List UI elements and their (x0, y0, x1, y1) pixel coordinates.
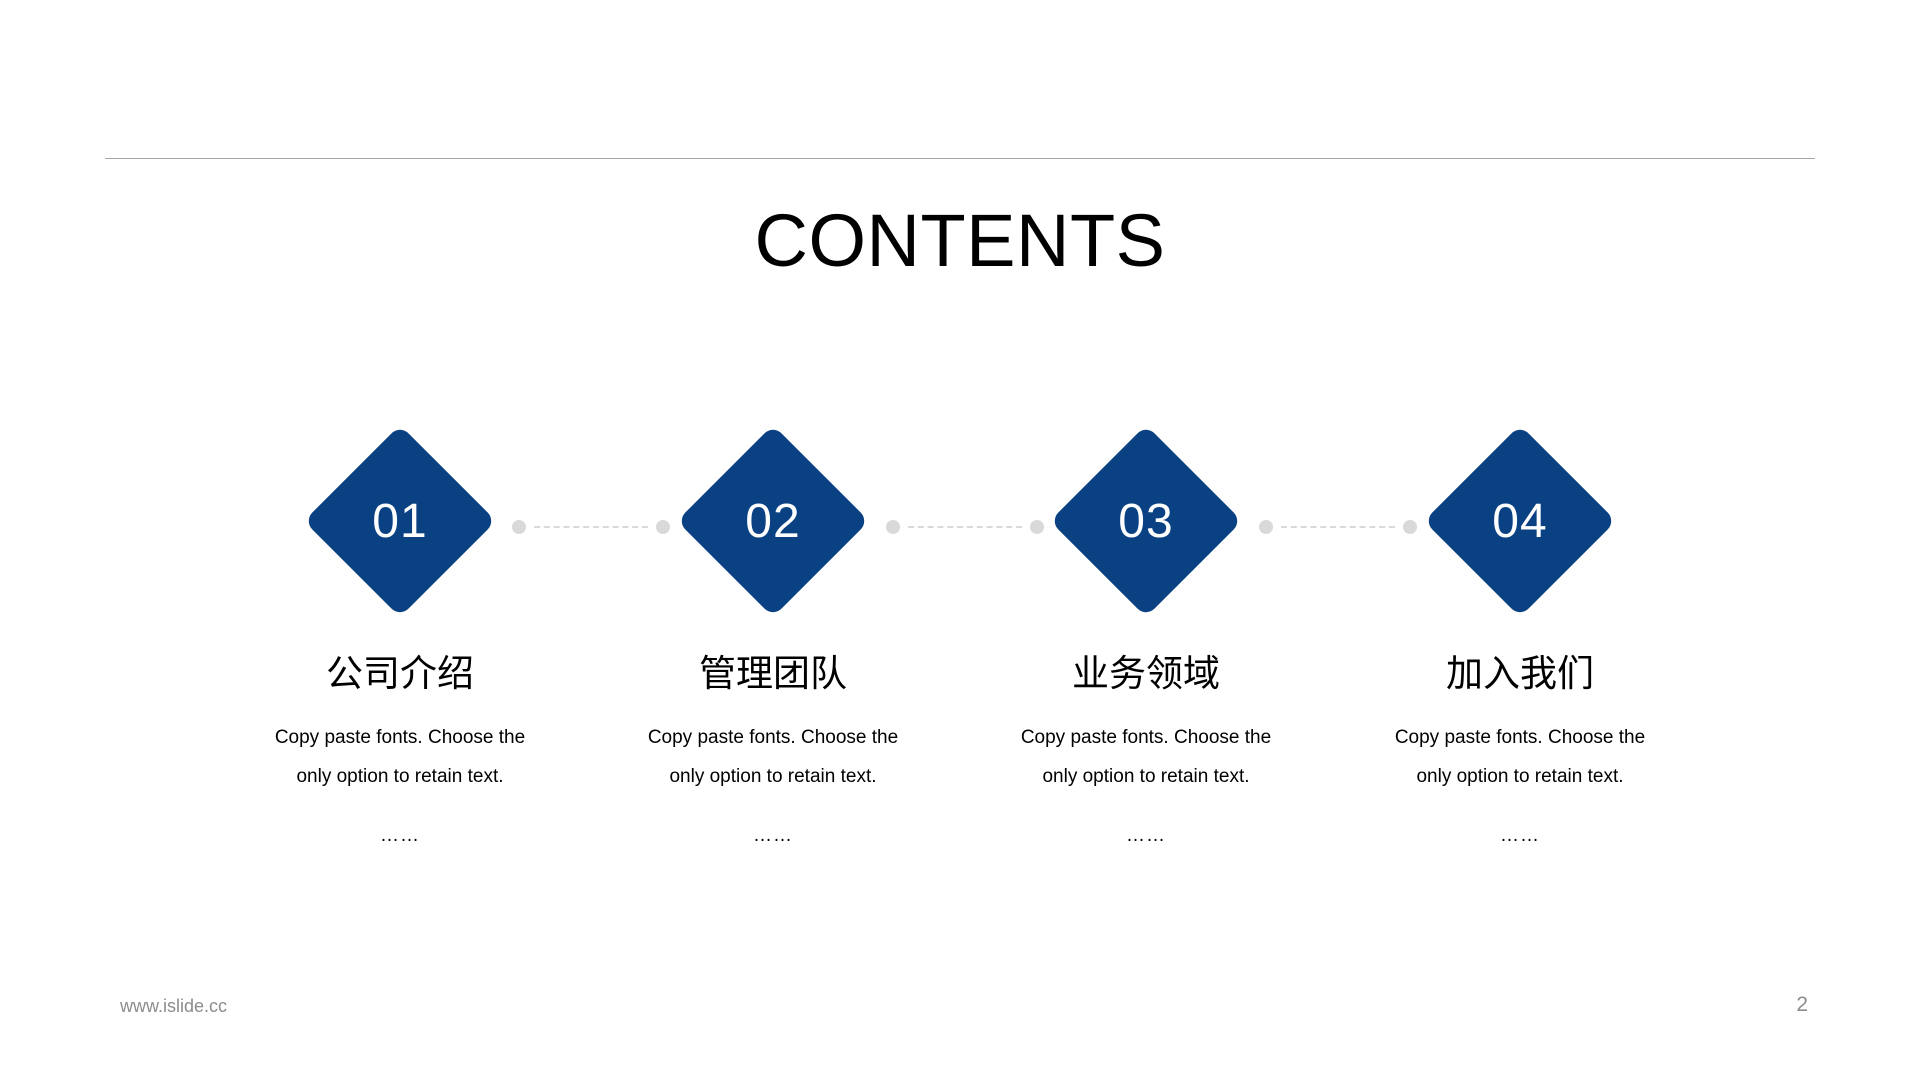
diamond-badge-02[interactable]: 02 (678, 420, 868, 622)
diamond-badge-04[interactable]: 04 (1425, 420, 1615, 622)
agenda-item-03[interactable]: 03 业务领域 Copy paste fonts. Choose the onl… (996, 420, 1296, 850)
slide-page-number: 2 (1796, 992, 1808, 1018)
agenda-ellipsis: …… (250, 822, 550, 850)
agenda-heading: 公司介绍 (250, 650, 550, 698)
agenda-item-02[interactable]: 02 管理团队 Copy paste fonts. Choose the onl… (623, 420, 923, 850)
diamond-number-label: 03 (1051, 420, 1241, 622)
agenda-body-text: Copy paste fonts. Choose the only option… (1370, 718, 1670, 796)
agenda-ellipsis: …… (996, 822, 1296, 850)
page-title: CONTENTS (0, 198, 1920, 284)
footer-website-url[interactable]: www.islide.cc (120, 994, 227, 1018)
agenda-item-04[interactable]: 04 加入我们 Copy paste fonts. Choose the onl… (1370, 420, 1670, 850)
agenda-body-text: Copy paste fonts. Choose the only option… (623, 718, 923, 796)
header-divider (105, 158, 1815, 159)
agenda-ellipsis: …… (1370, 822, 1670, 850)
diamond-number-label: 04 (1425, 420, 1615, 622)
diamond-number-label: 01 (305, 420, 495, 622)
agenda-heading: 加入我们 (1370, 650, 1670, 698)
diamond-badge-01[interactable]: 01 (305, 420, 495, 622)
agenda-body-text: Copy paste fonts. Choose the only option… (250, 718, 550, 796)
agenda-heading: 业务领域 (996, 650, 1296, 698)
agenda-heading: 管理团队 (623, 650, 923, 698)
diamond-badge-03[interactable]: 03 (1051, 420, 1241, 622)
diamond-number-label: 02 (678, 420, 868, 622)
agenda-ellipsis: …… (623, 822, 923, 850)
agenda-body-text: Copy paste fonts. Choose the only option… (996, 718, 1296, 796)
agenda-item-01[interactable]: 01 公司介绍 Copy paste fonts. Choose the onl… (250, 420, 550, 850)
